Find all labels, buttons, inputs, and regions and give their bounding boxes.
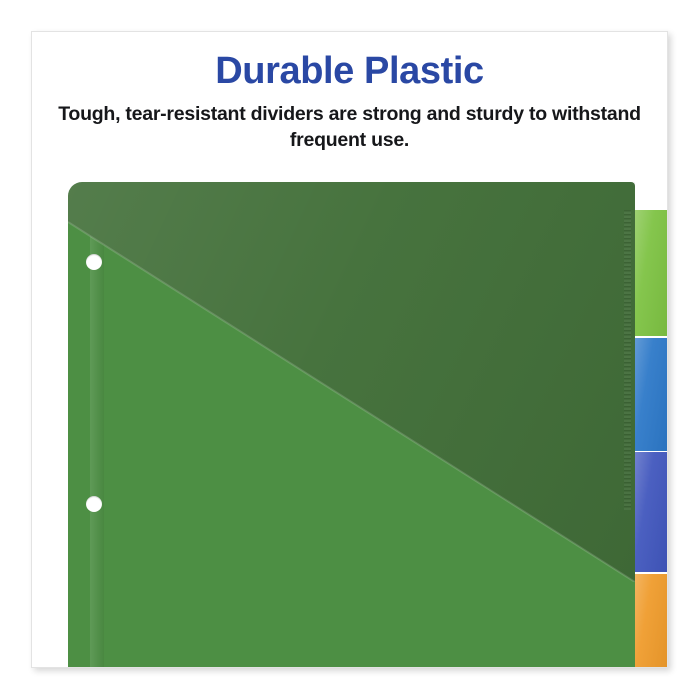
tab-navy [631, 452, 668, 572]
page-subtitle: Tough, tear-resistant dividers are stron… [32, 92, 667, 153]
punch-hole-bottom [86, 496, 102, 512]
tab-orange [631, 574, 668, 668]
tab-column [631, 182, 668, 668]
page-title: Durable Plastic [32, 32, 667, 92]
tab-lime [631, 210, 668, 336]
product-image-card: Durable Plastic Tough, tear-resistant di… [31, 31, 668, 668]
spine-texture [624, 210, 631, 510]
punch-hole-top [86, 254, 102, 270]
tab-blue [631, 338, 668, 451]
divider-product-illustration [68, 182, 668, 668]
text-block: Durable Plastic Tough, tear-resistant di… [32, 32, 667, 153]
